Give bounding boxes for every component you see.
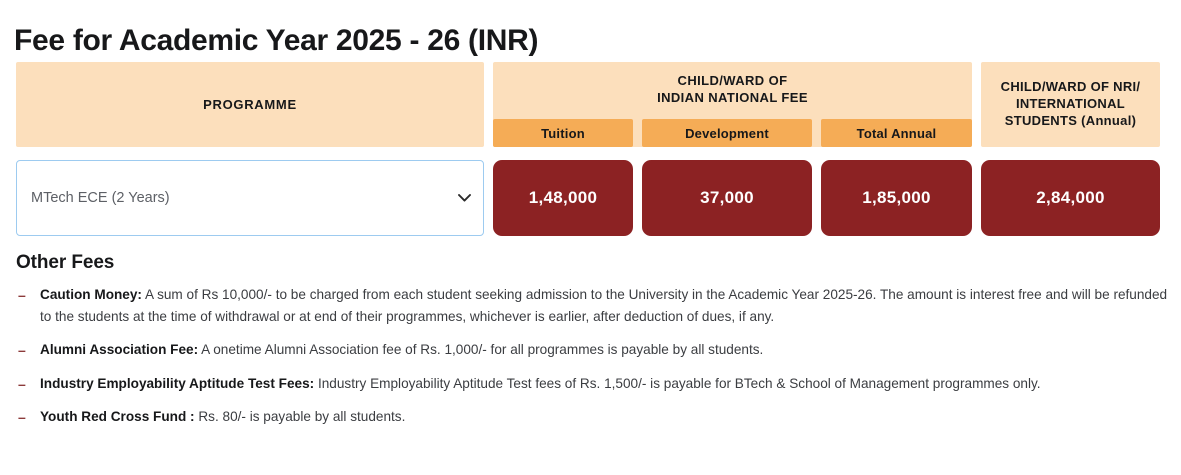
indian-national-header-cell: CHILD/WARD OF INDIAN NATIONAL FEE Tuitio… xyxy=(493,62,972,147)
programme-header-cell: PROGRAMME xyxy=(16,62,484,147)
bullet-dash-icon: – xyxy=(16,284,40,307)
fee-value-total-annual: 1,85,000 xyxy=(821,160,972,236)
fee-note-body: Caution Money: A sum of Rs 10,000/- to b… xyxy=(40,284,1181,328)
bullet-dash-icon: – xyxy=(16,339,40,362)
other-fees-heading: Other Fees xyxy=(16,252,1181,274)
other-fees-section: Other Fees – Caution Money: A sum of Rs … xyxy=(16,252,1181,440)
indian-header-line-1: CHILD/WARD OF xyxy=(678,73,788,88)
fee-note-label: Caution Money: xyxy=(40,287,142,302)
fee-note-label: Youth Red Cross Fund : xyxy=(40,409,195,424)
fee-note-label: Alumni Association Fee: xyxy=(40,342,198,357)
indian-national-header-label: CHILD/WARD OF INDIAN NATIONAL FEE xyxy=(493,62,972,119)
fee-note-body: Industry Employability Aptitude Test Fee… xyxy=(40,373,1181,395)
programme-header-label: PROGRAMME xyxy=(203,97,297,112)
nri-header-line-1: CHILD/WARD OF NRI/ xyxy=(1001,79,1141,94)
fee-note-body: Alumni Association Fee: A onetime Alumni… xyxy=(40,339,1181,361)
nri-header-line-3: STUDENTS (Annual) xyxy=(1005,113,1136,128)
list-item: – Caution Money: A sum of Rs 10,000/- to… xyxy=(16,284,1181,328)
subheader-tuition: Tuition xyxy=(493,119,633,147)
fee-value-nri-annual: 2,84,000 xyxy=(981,160,1160,236)
fee-note-body: Youth Red Cross Fund : Rs. 80/- is payab… xyxy=(40,406,1181,428)
programme-select[interactable]: MTech ECE (2 Years) xyxy=(16,160,484,236)
fee-note-text: A sum of Rs 10,000/- to be charged from … xyxy=(40,287,1167,324)
fee-value-tuition: 1,48,000 xyxy=(493,160,633,236)
fee-value-development: 37,000 xyxy=(642,160,812,236)
fee-note-text: Rs. 80/- is payable by all students. xyxy=(195,409,406,424)
programme-select-wrapper: MTech ECE (2 Years) xyxy=(16,160,484,236)
bullet-dash-icon: – xyxy=(16,373,40,396)
nri-header-line-2: INTERNATIONAL xyxy=(1016,96,1125,111)
subheader-development: Development xyxy=(642,119,812,147)
bullet-dash-icon: – xyxy=(16,406,40,429)
indian-fee-cells: 1,48,000 37,000 1,85,000 xyxy=(493,160,972,236)
subheader-total-annual: Total Annual xyxy=(821,119,972,147)
fee-note-text: Industry Employability Aptitude Test fee… xyxy=(314,376,1040,391)
fee-page: Fee for Academic Year 2025 - 26 (INR) PR… xyxy=(0,0,1181,475)
list-item: – Industry Employability Aptitude Test F… xyxy=(16,373,1181,396)
fee-table-header: PROGRAMME CHILD/WARD OF INDIAN NATIONAL … xyxy=(16,62,1168,147)
list-item: – Youth Red Cross Fund : Rs. 80/- is pay… xyxy=(16,406,1181,429)
fee-note-label: Industry Employability Aptitude Test Fee… xyxy=(40,376,314,391)
nri-header-cell: CHILD/WARD OF NRI/ INTERNATIONAL STUDENT… xyxy=(981,62,1160,147)
nri-fee-cells: 2,84,000 xyxy=(981,160,1160,236)
fee-table-value-row: MTech ECE (2 Years) 1,48,000 37,000 1,85… xyxy=(16,160,1168,236)
indian-subheader-row: Tuition Development Total Annual xyxy=(493,119,972,147)
indian-header-line-2: INDIAN NATIONAL FEE xyxy=(657,90,808,105)
list-item: – Alumni Association Fee: A onetime Alum… xyxy=(16,339,1181,362)
page-title: Fee for Academic Year 2025 - 26 (INR) xyxy=(14,24,538,58)
fee-note-text: A onetime Alumni Association fee of Rs. … xyxy=(198,342,763,357)
